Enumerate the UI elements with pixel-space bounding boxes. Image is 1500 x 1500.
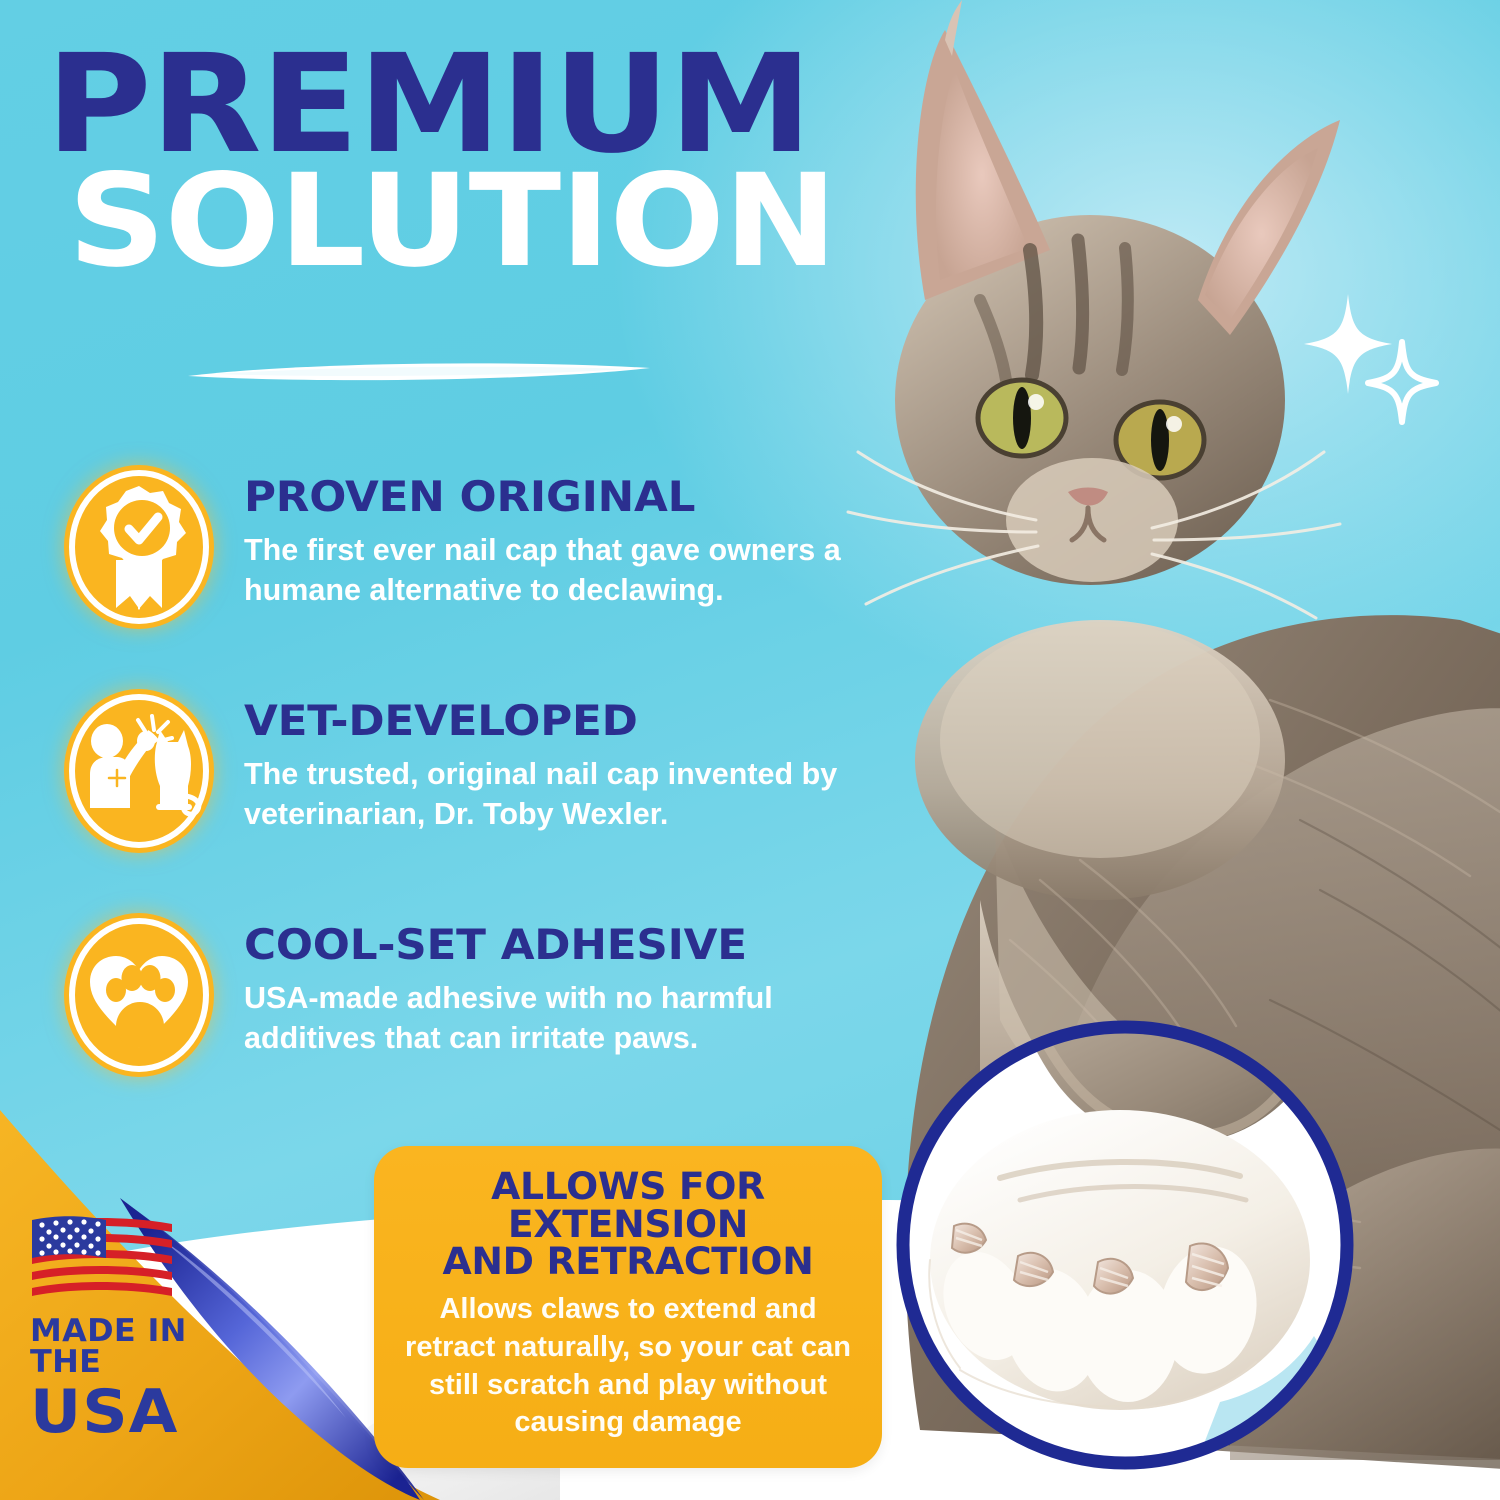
feature-body: The first ever nail cap that gave owners…	[244, 530, 844, 611]
callout-title: ALLOWS FOR EXTENSION AND RETRACTION	[395, 1168, 860, 1281]
award-ribbon-check-icon	[60, 462, 218, 632]
feature-body: USA-made adhesive with no harmful additi…	[244, 978, 844, 1059]
callout-body: Allows claws to extend and retract natur…	[400, 1291, 856, 1442]
usa-badge-line-1: MADE IN THE	[30, 1316, 267, 1378]
callout-box: ALLOWS FOR EXTENSION AND RETRACTION Allo…	[374, 1146, 882, 1468]
feature-item: PROVEN ORIGINAL The first ever nail cap …	[60, 462, 860, 632]
feature-list: PROVEN ORIGINAL The first ever nail cap …	[60, 462, 860, 1134]
callout-title-line-2: AND RETRACTION	[443, 1240, 814, 1283]
product-infographic: PREMIUM SOLUTION	[0, 0, 1500, 1500]
made-in-usa-badge: MADE IN THE USA	[30, 1210, 260, 1442]
callout-title-line-1: ALLOWS FOR EXTENSION	[491, 1165, 765, 1246]
usa-flag-icon	[30, 1210, 176, 1302]
feature-body: The trusted, original nail cap invented …	[244, 754, 844, 835]
feature-title: COOL-SET ADHESIVE	[244, 924, 868, 966]
feature-title: PROVEN ORIGINAL	[244, 476, 868, 518]
usa-badge-line-2: USA	[30, 1382, 272, 1442]
sparkles-decoration	[1296, 288, 1442, 428]
cat-paw-with-nail-caps-closeup	[890, 1010, 1360, 1480]
headline-line-1: PREMIUM	[46, 48, 894, 162]
heart-paw-icon	[60, 910, 218, 1080]
headline-line-2: SOLUTION	[68, 168, 893, 276]
sparkle-star-outline-icon	[1368, 342, 1436, 422]
swoosh-divider-icon	[186, 358, 652, 384]
feature-title: VET-DEVELOPED	[244, 700, 868, 742]
page-title: PREMIUM SOLUTION	[46, 48, 846, 276]
feature-item: VET-DEVELOPED The trusted, original nail…	[60, 686, 860, 856]
feature-item: COOL-SET ADHESIVE USA-made adhesive with…	[60, 910, 860, 1080]
vet-high-five-cat-icon	[60, 686, 218, 856]
